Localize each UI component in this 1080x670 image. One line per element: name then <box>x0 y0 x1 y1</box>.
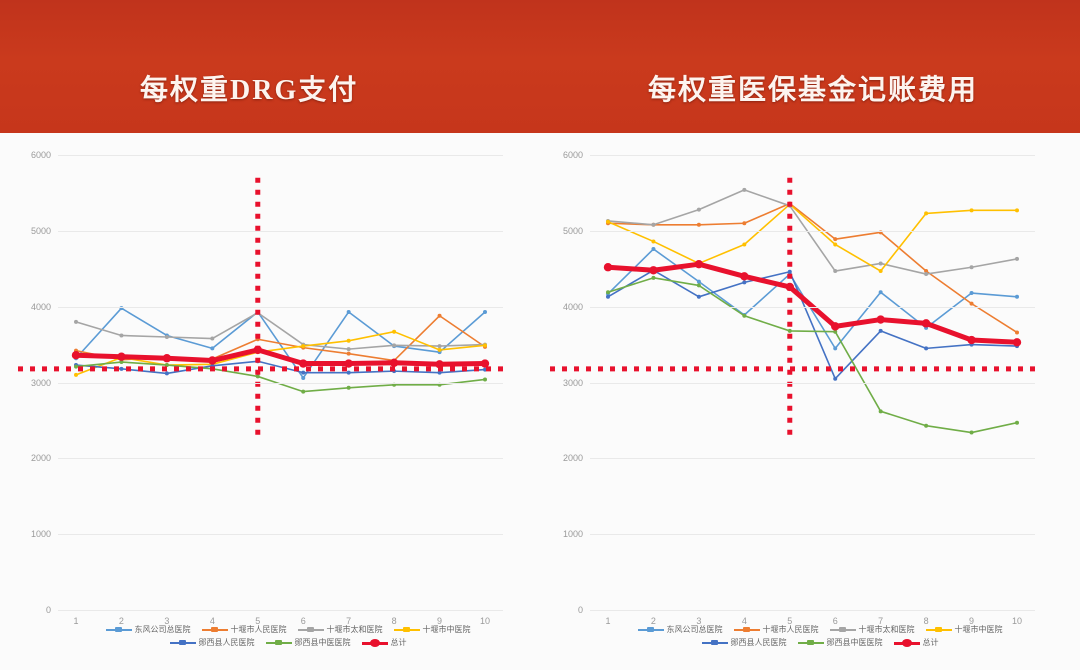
series-point <box>697 295 701 299</box>
plot-area-right: 600050004000300020001000012345678910 <box>590 155 1035 610</box>
series-line <box>608 278 1017 433</box>
series-point <box>740 272 748 280</box>
series-point <box>879 409 883 413</box>
gridline <box>58 155 503 156</box>
legend-item-label: 十堰市中医院 <box>955 626 1003 635</box>
series-point <box>742 188 746 192</box>
series-point <box>483 377 487 381</box>
y-axis-tick-label: 5000 <box>31 226 51 236</box>
series-point <box>879 329 883 333</box>
legend-item-label: 东风公司总医院 <box>135 626 191 635</box>
legend-item-label: 总计 <box>391 639 407 648</box>
x-axis-tick-label: 6 <box>833 616 838 626</box>
series-point <box>483 310 487 314</box>
series-point <box>210 337 214 341</box>
legend-item-label: 十堰市人民医院 <box>763 626 819 635</box>
series-point <box>833 237 837 241</box>
legend-item[interactable]: 东风公司总医院 <box>638 626 723 635</box>
series-point <box>1013 338 1021 346</box>
series-point <box>788 329 792 333</box>
series-point <box>210 346 214 350</box>
x-axis-tick-label: 10 <box>1012 616 1022 626</box>
series-point <box>742 221 746 225</box>
series-point <box>165 371 169 375</box>
y-axis-tick-label: 3000 <box>563 378 583 388</box>
series-point <box>1015 257 1019 261</box>
series-point <box>742 242 746 246</box>
legend-marker-icon <box>926 626 952 634</box>
series-point <box>970 302 974 306</box>
legend-item[interactable]: 郧西县中医医院 <box>798 639 883 648</box>
series-point <box>483 343 487 347</box>
legend-item-label: 郧西县人民医院 <box>731 639 787 648</box>
plot-area-left: 600050004000300020001000012345678910 <box>58 155 503 610</box>
legend-row: 郧西县人民医院郧西县中医医院总计 <box>590 639 1050 648</box>
series-point <box>970 208 974 212</box>
legend-item-label: 郧西县人民医院 <box>199 639 255 648</box>
gridline <box>58 231 503 232</box>
series-point <box>879 269 883 273</box>
legend-item[interactable]: 总计 <box>362 639 407 648</box>
y-axis-tick-label: 0 <box>578 605 583 615</box>
legend-item[interactable]: 十堰市中医院 <box>394 626 471 635</box>
series-point <box>876 315 884 323</box>
series-line <box>608 270 1017 378</box>
series-point <box>697 283 701 287</box>
chart-drg-payment: 600050004000300020001000012345678910 东风公… <box>8 133 540 670</box>
x-axis-tick-label: 6 <box>301 616 306 626</box>
legend-item-label: 十堰市太和医院 <box>859 626 915 635</box>
gridline <box>590 155 1035 156</box>
series-line <box>608 190 1017 274</box>
series-point <box>1015 421 1019 425</box>
series-line <box>76 350 485 364</box>
series-point <box>301 371 305 375</box>
series-point <box>301 344 305 348</box>
series-point <box>695 260 703 268</box>
series-point <box>924 211 928 215</box>
legend-item[interactable]: 东风公司总医院 <box>106 626 191 635</box>
x-axis-tick-label: 8 <box>924 616 929 626</box>
series-point <box>924 272 928 276</box>
legend-marker-icon <box>798 639 824 647</box>
legend-item[interactable]: 总计 <box>894 639 939 648</box>
series-point <box>347 371 351 375</box>
y-axis-tick-label: 1000 <box>31 529 51 539</box>
series-point <box>347 347 351 351</box>
series-point <box>833 269 837 273</box>
series-line <box>76 316 485 361</box>
chart-insurance-fund: 600050004000300020001000012345678910 东风公… <box>540 133 1072 670</box>
legend-marker-icon <box>830 626 856 634</box>
x-axis-tick-label: 4 <box>210 616 215 626</box>
legend-marker-icon <box>394 626 420 634</box>
series-point <box>208 356 216 364</box>
series-point <box>117 353 125 361</box>
series-point <box>74 373 78 377</box>
series-point <box>1015 208 1019 212</box>
series-point <box>74 365 78 369</box>
series-point <box>301 376 305 380</box>
legend-marker-icon <box>298 626 324 634</box>
series-point <box>697 208 701 212</box>
x-axis-tick-label: 1 <box>605 616 610 626</box>
y-axis-tick-label: 6000 <box>563 150 583 160</box>
series-point <box>924 346 928 350</box>
series-point <box>833 377 837 381</box>
x-axis-tick-label: 2 <box>119 616 124 626</box>
legend-marker-icon <box>638 626 664 634</box>
legend-item-label: 十堰市中医院 <box>423 626 471 635</box>
series-point <box>831 322 839 330</box>
charts-board: 600050004000300020001000012345678910 东风公… <box>0 133 1080 670</box>
legend-item[interactable]: 十堰市太和医院 <box>830 626 915 635</box>
x-axis-tick-label: 10 <box>480 616 490 626</box>
y-axis-tick-label: 2000 <box>563 453 583 463</box>
series-point <box>165 335 169 339</box>
gridline <box>590 307 1035 308</box>
legend-item-label: 总计 <box>923 639 939 648</box>
gridline <box>590 610 1035 611</box>
series-point <box>742 280 746 284</box>
series-point <box>879 261 883 265</box>
gridline <box>58 383 503 384</box>
series-point <box>163 354 171 362</box>
series-point <box>392 343 396 347</box>
series-point <box>256 374 260 378</box>
series-point <box>347 339 351 343</box>
x-axis-tick-label: 1 <box>73 616 78 626</box>
y-axis-tick-label: 1000 <box>563 529 583 539</box>
chart-title-right: 每权重医保基金记账费用 <box>648 68 978 108</box>
y-axis-tick-label: 5000 <box>563 226 583 236</box>
series-point <box>922 319 930 327</box>
series-point <box>606 295 610 299</box>
legend-item-label: 十堰市太和医院 <box>327 626 383 635</box>
series-point <box>1015 295 1019 299</box>
y-axis-tick-label: 2000 <box>31 453 51 463</box>
legend-marker-icon <box>266 639 292 647</box>
chart-title-left: 每权重DRG支付 <box>140 68 358 108</box>
legend-row: 东风公司总医院十堰市人民医院十堰市太和医院十堰市中医院 <box>590 626 1050 635</box>
series-point <box>970 291 974 295</box>
series-point <box>301 390 305 394</box>
legend-marker-icon <box>202 626 228 634</box>
legend-row: 东风公司总医院十堰市人民医院十堰市太和医院十堰市中医院 <box>58 626 518 635</box>
legend-item-label: 郧西县中医医院 <box>295 639 351 648</box>
y-axis-tick-label: 3000 <box>31 378 51 388</box>
series-point <box>651 247 655 251</box>
x-axis-tick-label: 4 <box>742 616 747 626</box>
gridline <box>590 231 1035 232</box>
series-point <box>390 359 398 367</box>
legend-marker-icon <box>894 639 920 647</box>
legend-item[interactable]: 郧西县人民医院 <box>702 639 787 648</box>
legend-item-label: 郧西县中医医院 <box>827 639 883 648</box>
series-point <box>74 320 78 324</box>
y-axis-tick-label: 6000 <box>31 150 51 160</box>
legend-right: 东风公司总医院十堰市人民医院十堰市太和医院十堰市中医院郧西县人民医院郧西县中医医… <box>590 626 1050 652</box>
gridline <box>590 458 1035 459</box>
gridline <box>58 458 503 459</box>
series-point <box>119 367 123 371</box>
legend-row: 郧西县人民医院郧西县中医医院总计 <box>58 639 518 648</box>
y-axis-tick-label: 4000 <box>31 302 51 312</box>
gridline <box>590 534 1035 535</box>
series-point <box>347 310 351 314</box>
legend-marker-icon <box>362 639 388 647</box>
legend-item[interactable]: 十堰市人民医院 <box>734 626 819 635</box>
series-point <box>970 265 974 269</box>
legend-left: 东风公司总医院十堰市人民医院十堰市太和医院十堰市中医院郧西县人民医院郧西县中医医… <box>58 626 518 652</box>
series-point <box>438 344 442 348</box>
series-point <box>604 263 612 271</box>
legend-item-label: 十堰市人民医院 <box>231 626 287 635</box>
series-point <box>833 346 837 350</box>
legend-item[interactable]: 十堰市太和医院 <box>298 626 383 635</box>
legend-item[interactable]: 十堰市人民医院 <box>202 626 287 635</box>
series-point <box>438 314 442 318</box>
gridline <box>590 383 1035 384</box>
legend-marker-icon <box>170 639 196 647</box>
gridline <box>58 610 503 611</box>
series-point <box>72 351 80 359</box>
series-point <box>967 336 975 344</box>
gridline <box>58 307 503 308</box>
legend-item[interactable]: 十堰市中医院 <box>926 626 1003 635</box>
series-point <box>697 280 701 284</box>
series-point <box>392 330 396 334</box>
legend-marker-icon <box>734 626 760 634</box>
series-line <box>76 332 485 375</box>
series-point <box>438 348 442 352</box>
series-point <box>924 424 928 428</box>
series-point <box>606 290 610 294</box>
legend-marker-icon <box>702 639 728 647</box>
series-point <box>742 314 746 318</box>
series-point <box>649 266 657 274</box>
series-point <box>833 242 837 246</box>
x-axis-tick-label: 2 <box>651 616 656 626</box>
series-point <box>697 223 701 227</box>
series-point <box>651 239 655 243</box>
legend-marker-icon <box>106 626 132 634</box>
gridline <box>58 534 503 535</box>
series-point <box>606 220 610 224</box>
series-point <box>347 386 351 390</box>
legend-item-label: 东风公司总医院 <box>667 626 723 635</box>
series-point <box>651 276 655 280</box>
header-banner: 每权重DRG支付 每权重医保基金记账费用 <box>0 0 1080 133</box>
series-point <box>119 333 123 337</box>
series-point <box>651 223 655 227</box>
y-axis-tick-label: 0 <box>46 605 51 615</box>
series-point <box>1015 330 1019 334</box>
y-axis-tick-label: 4000 <box>563 302 583 312</box>
x-axis-tick-label: 8 <box>392 616 397 626</box>
series-point <box>788 270 792 274</box>
series-point <box>347 352 351 356</box>
series-point <box>879 290 883 294</box>
series-point <box>970 431 974 435</box>
legend-item[interactable]: 郧西县人民医院 <box>170 639 255 648</box>
legend-item[interactable]: 郧西县中医医院 <box>266 639 351 648</box>
